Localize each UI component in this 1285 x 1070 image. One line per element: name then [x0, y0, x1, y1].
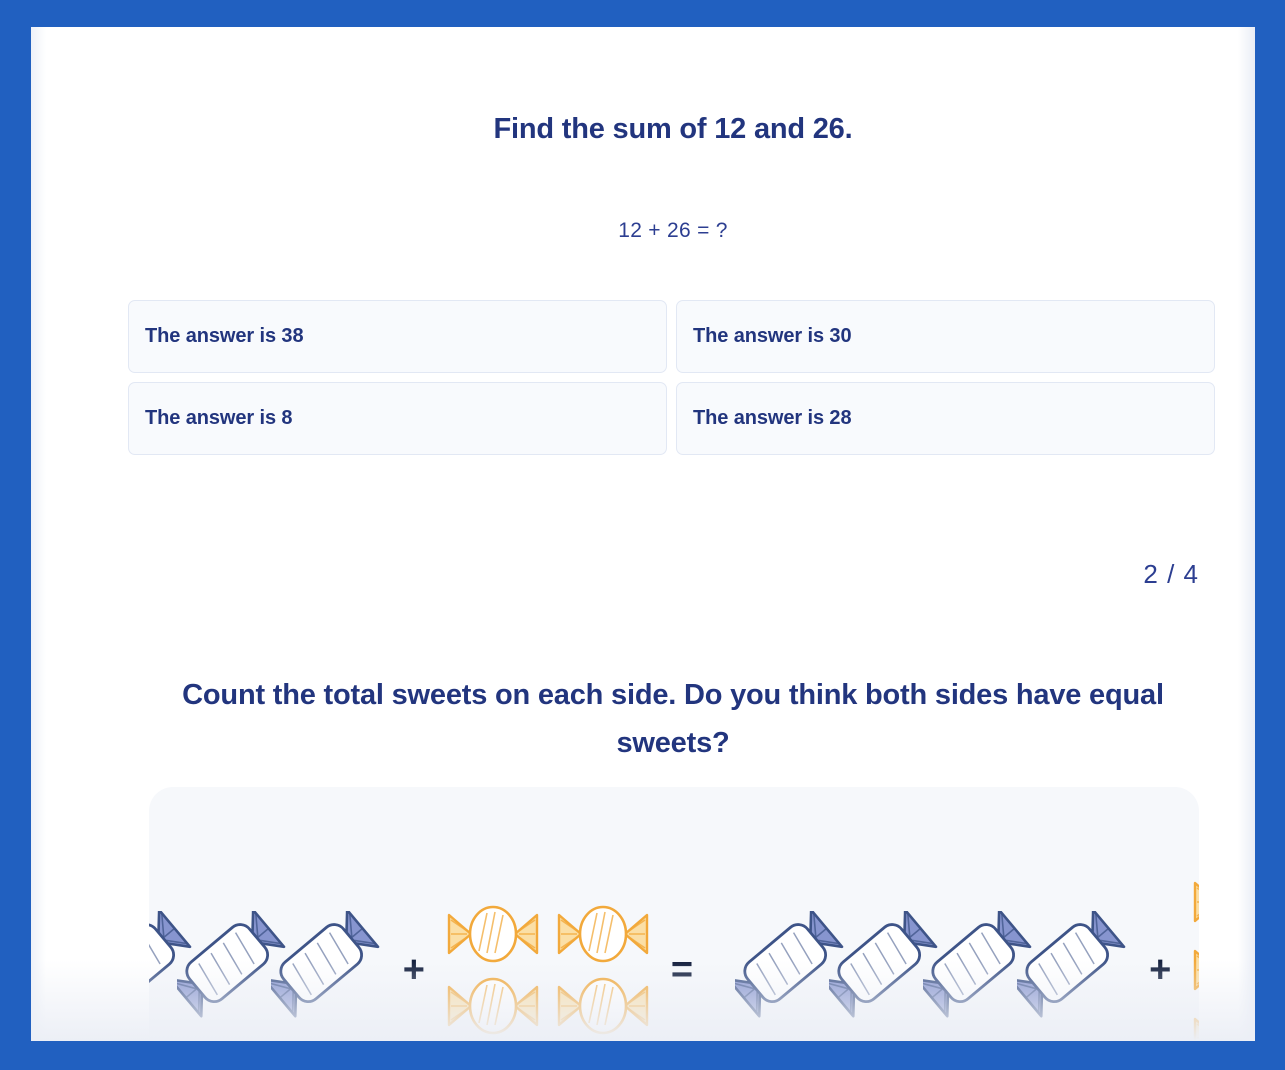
- orange-candy-icon: [1191, 1007, 1199, 1041]
- answer-option-2[interactable]: The answer is 30: [676, 300, 1215, 373]
- purple-candy-icon: [1017, 911, 1129, 1029]
- orange-candy-icon: [555, 903, 651, 965]
- answer-option-label: The answer is 38: [145, 325, 303, 348]
- answer-option-1[interactable]: The answer is 38: [128, 300, 667, 373]
- question-1-options: The answer is 38 The answer is 30 The an…: [128, 300, 1215, 455]
- answer-option-label: The answer is 30: [693, 325, 851, 348]
- right-purple-candy-group: [735, 911, 1129, 1029]
- answer-option-4[interactable]: The answer is 28: [676, 382, 1215, 455]
- orange-candy-icon: [1191, 871, 1199, 933]
- orange-candy-icon: [1191, 939, 1199, 1001]
- left-purple-candy-group: [149, 911, 383, 1029]
- orange-candy-icon: [445, 903, 541, 965]
- answer-option-label: The answer is 8: [145, 407, 292, 430]
- sweets-equation-row: + = +: [149, 895, 1199, 1041]
- worksheet-page: Find the sum of 12 and 26. 12 + 26 = ? T…: [31, 27, 1255, 1041]
- plus-operator-1: +: [383, 951, 445, 989]
- orange-candy-icon: [555, 975, 651, 1037]
- purple-candy-icon: [271, 911, 383, 1029]
- question-2-title: Count the total sweets on each side. Do …: [77, 671, 1255, 767]
- answer-option-label: The answer is 28: [693, 407, 851, 430]
- right-orange-candy-group: [1191, 871, 1199, 1041]
- app-frame: Find the sum of 12 and 26. 12 + 26 = ? T…: [0, 0, 1285, 1070]
- left-orange-candy-group: [445, 903, 651, 1037]
- question-1-equation: 12 + 26 = ?: [77, 219, 1255, 243]
- page-progress-indicator: 2 / 4: [1143, 559, 1199, 590]
- sweets-illustration-panel: + = +: [149, 787, 1199, 1041]
- answer-option-3[interactable]: The answer is 8: [128, 382, 667, 455]
- orange-candy-icon: [445, 975, 541, 1037]
- plus-operator-2: +: [1129, 951, 1191, 989]
- equals-operator: =: [651, 951, 713, 989]
- question-1-title: Find the sum of 12 and 26.: [77, 109, 1255, 149]
